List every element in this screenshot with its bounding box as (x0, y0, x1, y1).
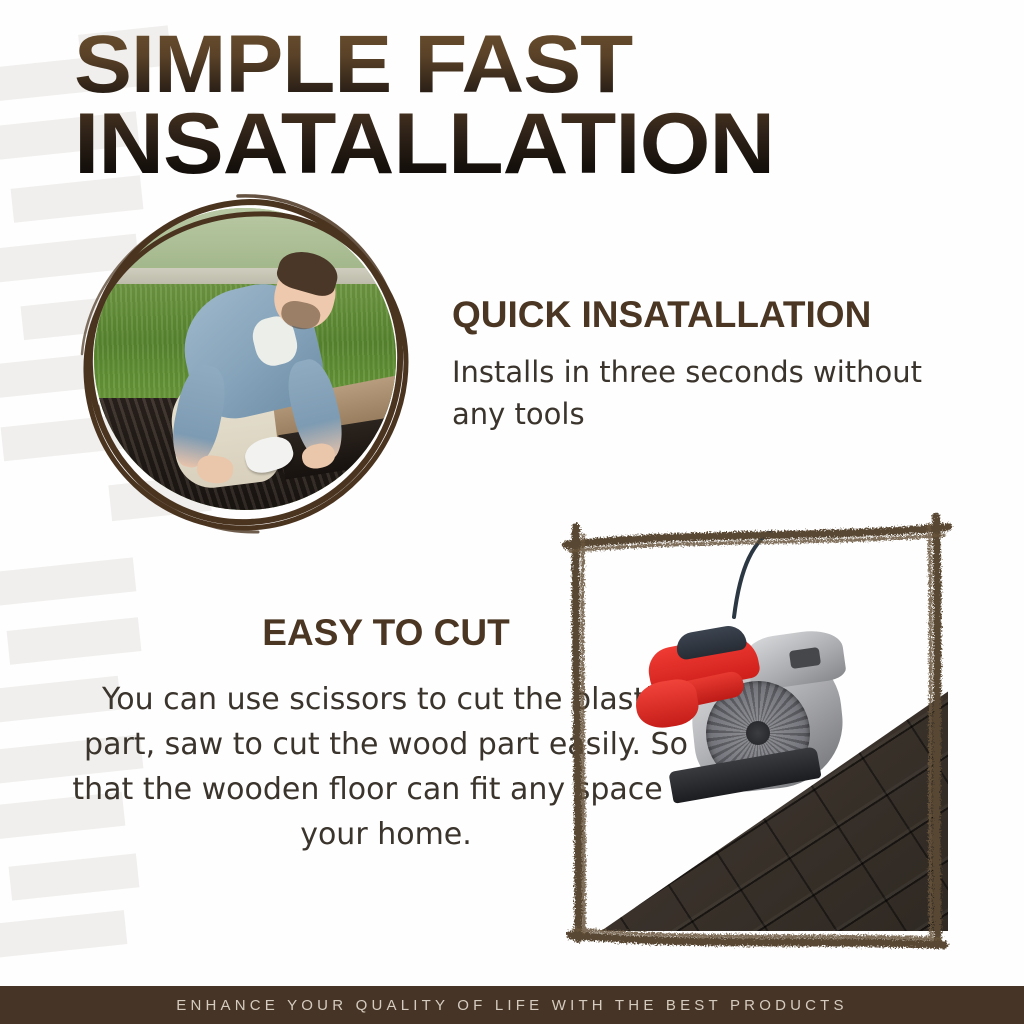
feature-quick-installation-body: Installs in three seconds without any to… (452, 351, 982, 435)
saw-photo-block (552, 505, 962, 955)
feature-quick-installation-title: QUICK INSATALLATION (452, 296, 982, 335)
headline-line-2: INSATALLATION (74, 104, 1024, 186)
headline-line-1: SIMPLE FAST (74, 26, 1024, 104)
circle-photo-block (62, 182, 438, 582)
headline: SIMPLE FAST INSATALLATION (74, 26, 974, 186)
photo-saw-arbor-bolt (746, 721, 770, 745)
circular-saw-cutting-deck-tiles-photo (576, 531, 948, 931)
feature-quick-installation: QUICK INSATALLATION Installs in three se… (452, 296, 982, 435)
photo-saw-power-cord (726, 531, 876, 619)
footer-tagline: ENHANCE YOUR QUALITY OF LIFE WITH THE BE… (176, 997, 848, 1014)
photo-saw-front-knob (633, 676, 701, 731)
product-infographic-poster: SIMPLE FAST INSATALLATION (0, 0, 1024, 1024)
photo-circular-saw (630, 619, 850, 799)
man-installing-deck-tiles-photo (94, 208, 396, 510)
footer-bar: ENHANCE YOUR QUALITY OF LIFE WITH THE BE… (0, 986, 1024, 1024)
